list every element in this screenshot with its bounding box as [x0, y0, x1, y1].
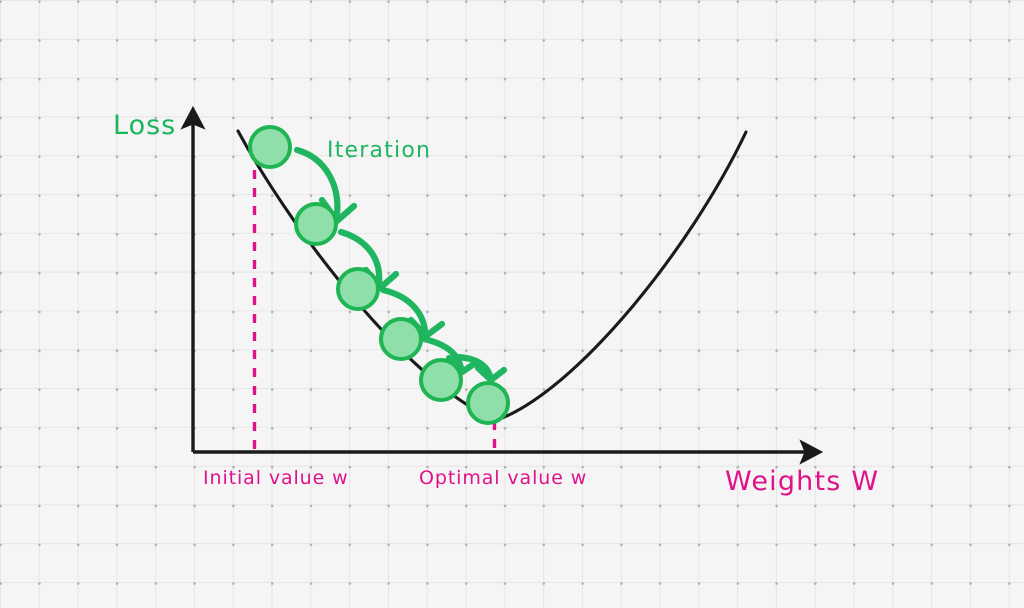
iteration-annotation: Iteration	[327, 138, 431, 163]
gradient-descent-diagram: Loss Iteration Weights W Initial value w…	[0, 0, 1024, 608]
initial-value-label: Initial value w	[203, 467, 349, 489]
optimal-value-label: Optimal value w	[419, 467, 587, 489]
iteration-ball	[468, 383, 508, 423]
iteration-ball	[296, 204, 336, 244]
iteration-ball	[250, 127, 290, 167]
diagram-canvas	[0, 0, 1024, 608]
y-axis-label: Loss	[113, 110, 176, 141]
iteration-ball	[381, 319, 421, 359]
iteration-ball	[421, 360, 461, 400]
iteration-ball	[338, 269, 378, 309]
x-axis-label: Weights W	[725, 466, 879, 497]
